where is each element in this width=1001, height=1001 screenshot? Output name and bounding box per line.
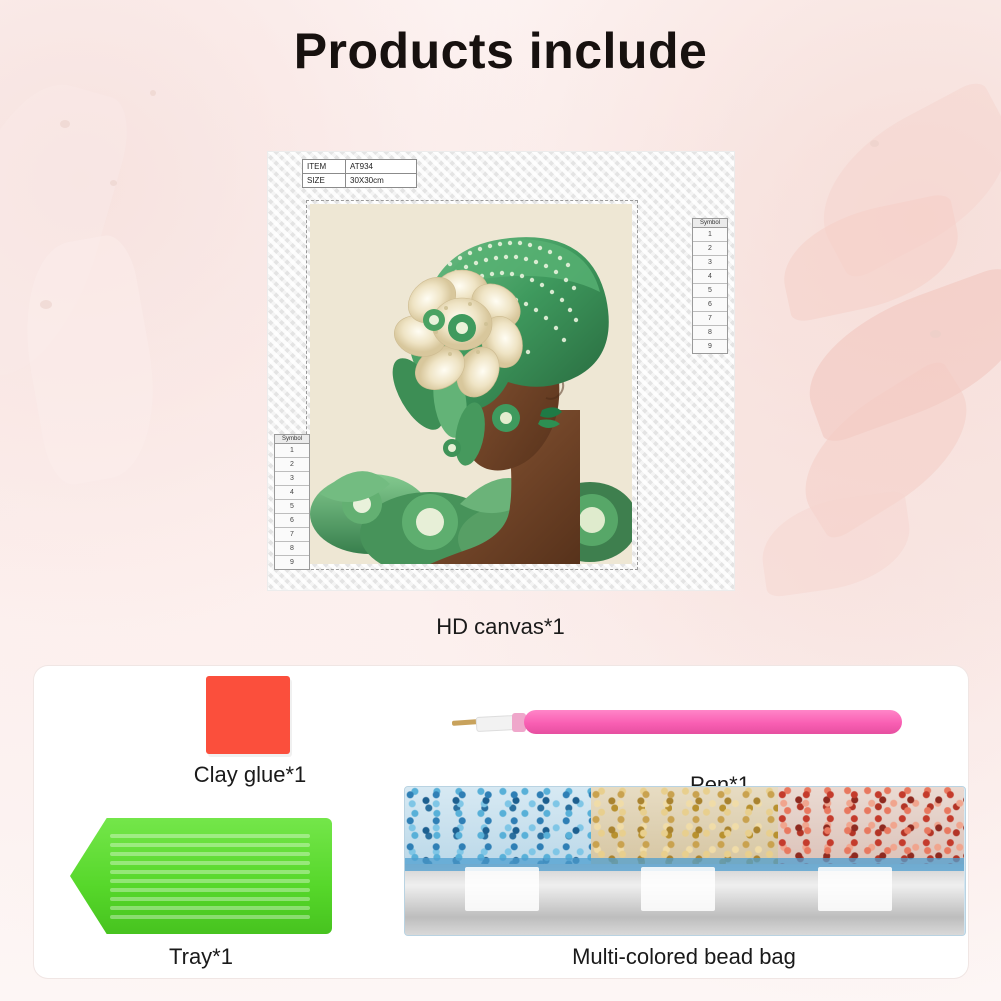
legend-left-row: 3 — [275, 472, 309, 486]
legend-left-row: 9 — [275, 556, 309, 569]
gold-beads — [591, 787, 777, 864]
legend-left-row: 5 — [275, 500, 309, 514]
tray-grooves — [110, 834, 310, 916]
spec-item-label: ITEM — [303, 160, 346, 174]
artwork-svg — [310, 204, 632, 564]
legend-left-row: 2 — [275, 458, 309, 472]
hd-canvas-image: ITEM AT934 SIZE 30X30cm — [268, 152, 734, 590]
legend-right-row: 1 — [693, 228, 727, 242]
legend-left-row: 7 — [275, 528, 309, 542]
speck — [870, 140, 879, 147]
hd-canvas-caption: HD canvas*1 — [0, 614, 1001, 640]
legend-left-row: 8 — [275, 542, 309, 556]
tray-image — [70, 818, 332, 934]
clay-glue-caption: Clay glue*1 — [100, 762, 400, 788]
bag-label-strip — [818, 867, 892, 911]
legend-right-row: 5 — [693, 284, 727, 298]
page-title: Products include — [0, 22, 1001, 80]
spec-item-value: AT934 — [346, 160, 417, 174]
blue-beads — [405, 787, 591, 864]
speck — [150, 90, 156, 96]
pen-neck — [476, 715, 517, 732]
legend-right-row: 8 — [693, 326, 727, 340]
legend-right-row: 3 — [693, 256, 727, 270]
legend-right-header: Symbol — [693, 219, 727, 228]
legend-left-row: 1 — [275, 444, 309, 458]
bag-label-strip — [641, 867, 715, 911]
canvas-spec-table: ITEM AT934 SIZE 30X30cm — [302, 159, 417, 188]
bag-label-strip — [465, 867, 539, 911]
bead-section-red — [778, 787, 964, 935]
pen-tip — [452, 719, 478, 726]
pen-body — [524, 710, 902, 734]
spec-size-label: SIZE — [303, 174, 346, 188]
clay-glue-image — [206, 676, 290, 754]
speck — [930, 330, 941, 338]
legend-right-row: 6 — [693, 298, 727, 312]
tray-caption: Tray*1 — [70, 944, 332, 970]
legend-left-row: 4 — [275, 486, 309, 500]
spec-size-value: 30X30cm — [346, 174, 417, 188]
symbol-legend-left: Symbol 1 2 3 4 5 6 7 8 9 — [274, 434, 310, 570]
legend-right-row: 7 — [693, 312, 727, 326]
legend-right-row: 4 — [693, 270, 727, 284]
red-beads — [778, 787, 964, 864]
legend-right-row: 2 — [693, 242, 727, 256]
bead-bag-caption: Multi-colored bead bag — [404, 944, 964, 970]
legend-left-header: Symbol — [275, 435, 309, 444]
speck — [60, 120, 70, 128]
artwork-illustration — [310, 204, 632, 564]
speck — [110, 180, 117, 186]
bead-section-blue — [405, 787, 591, 935]
speck — [40, 300, 52, 309]
pen-image — [452, 702, 912, 748]
legend-right-row: 9 — [693, 340, 727, 353]
symbol-legend-right: Symbol 1 2 3 4 5 6 7 8 9 — [692, 218, 728, 354]
bead-section-gold — [591, 787, 777, 935]
bead-bag-image — [404, 786, 966, 936]
legend-left-row: 6 — [275, 514, 309, 528]
